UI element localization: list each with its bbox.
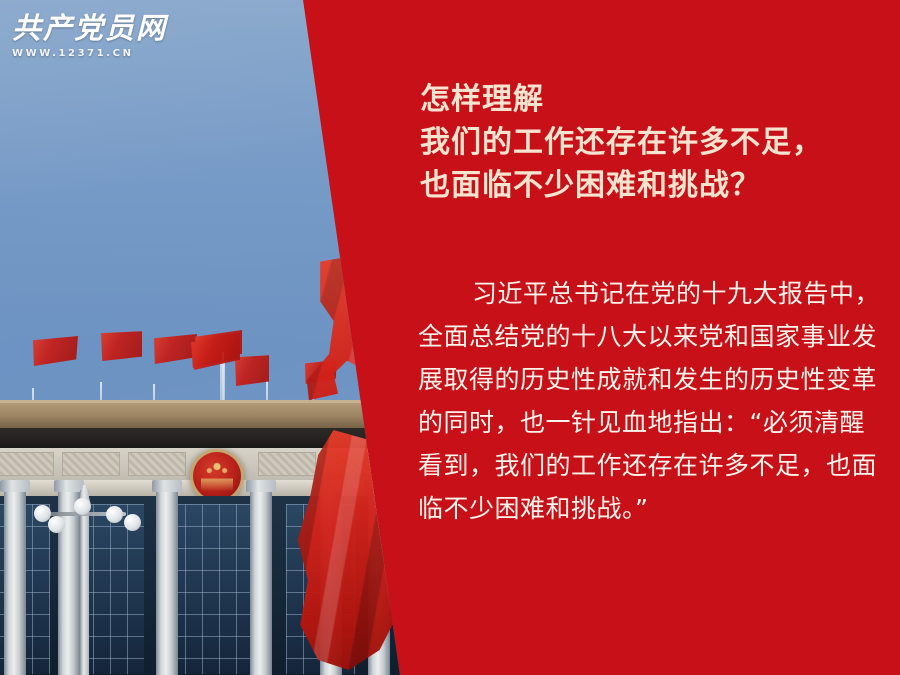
lamp-globe xyxy=(106,506,123,523)
lamp-globe xyxy=(74,498,91,515)
stone-column xyxy=(156,490,178,675)
photo-great-hall xyxy=(0,0,410,675)
body-paragraph: 习近平总书记在党的十九大报告中， 全面总结党的十八大以来党和国家事业发 展取得的… xyxy=(418,272,862,530)
body-line-2: 全面总结党的十八大以来党和国家事业发 xyxy=(418,315,862,358)
headline-line-1: 怎样理解 xyxy=(420,78,870,121)
lamp-globe xyxy=(48,516,65,533)
body-line-1: 习近平总书记在党的十九大报告中， xyxy=(418,272,862,315)
lamp-globe xyxy=(124,514,141,531)
page-title: 怎样理解 我们的工作还存在许多不足， 也面临不少困难和挑战？ xyxy=(420,78,870,207)
body-line-3: 展取得的历史性成就和发生的历史性变革 xyxy=(418,358,862,401)
stone-column xyxy=(4,490,26,675)
roof-eave xyxy=(0,400,410,431)
street-lamp-post xyxy=(80,490,89,675)
headline-line-2: 我们的工作还存在许多不足， xyxy=(420,121,870,164)
headline-line-3: 也面临不少困难和挑战？ xyxy=(420,164,870,207)
poster-canvas: 共产党员网 WWW.12371.CN 怎样理解 我们的工作还存在许多不足， 也面… xyxy=(0,0,900,675)
stone-column xyxy=(250,490,272,675)
body-line-5: 看到，我们的工作还存在许多不足，也面 xyxy=(418,444,862,487)
roof-flag xyxy=(101,330,142,361)
body-line-6: 临不少困难和挑战。” xyxy=(418,487,862,530)
national-emblem xyxy=(193,452,241,500)
logo-name: 共产党员网 xyxy=(12,14,167,43)
site-logo[interactable]: 共产党员网 WWW.12371.CN xyxy=(12,14,167,59)
roof-flag xyxy=(235,354,269,386)
logo-url: WWW.12371.CN xyxy=(12,48,167,59)
body-line-4: 的同时，也一针见血地指出：“必须清醒 xyxy=(418,401,862,444)
